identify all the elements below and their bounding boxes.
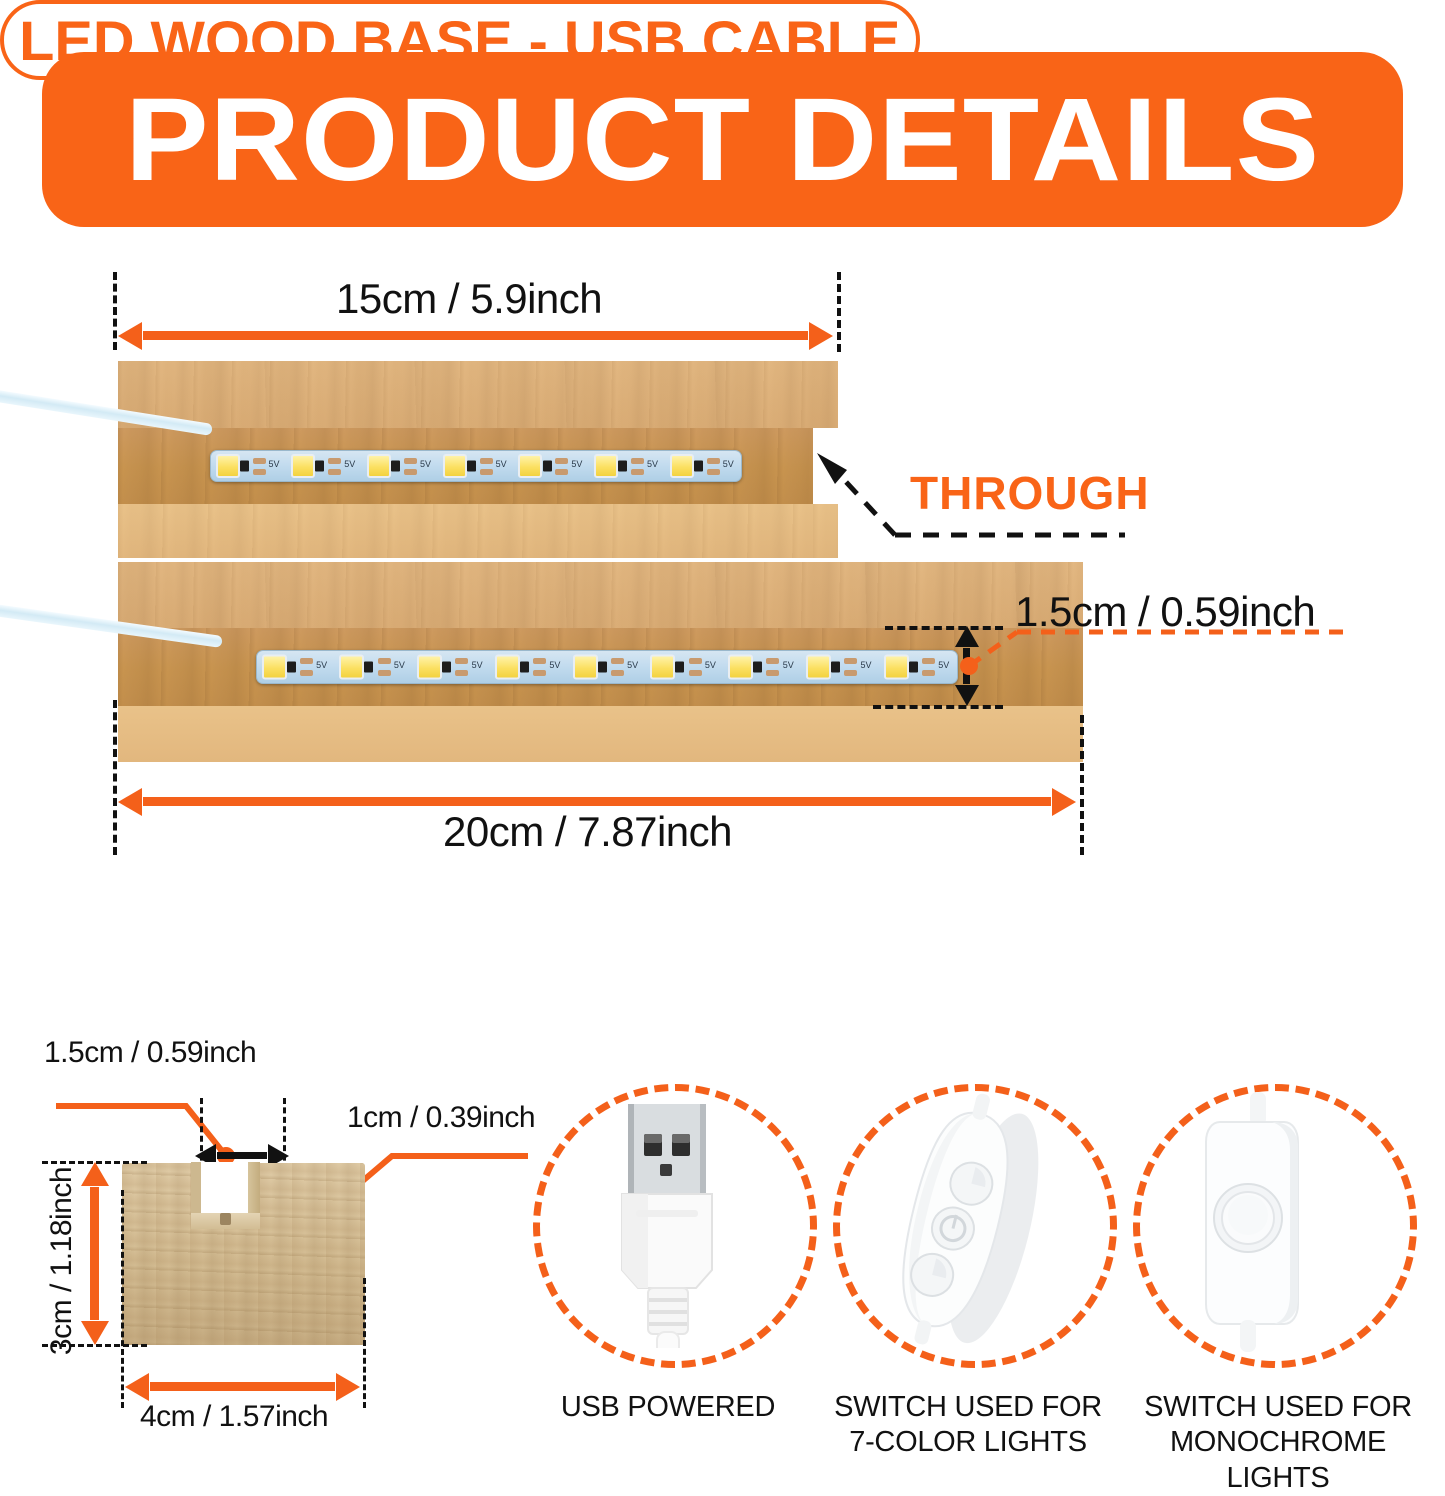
dimension-label-20cm: 20cm / 7.87inch <box>443 808 732 856</box>
cross-width-ext-left <box>121 1190 124 1408</box>
cross-groove-width-arrow <box>217 1152 267 1159</box>
led-segment: 5V <box>879 651 957 683</box>
usb-connector-icon <box>600 1098 740 1348</box>
led-segment: 5V <box>438 451 514 481</box>
extension-line-right-20cm <box>1080 715 1084 855</box>
led-segment: 5V <box>362 451 438 481</box>
through-label: THROUGH <box>910 466 1150 520</box>
wood-cross-section <box>122 1163 365 1345</box>
led-segment: 5V <box>514 451 590 481</box>
dimension-label-groove-depth: 1.5cm / 0.59inch <box>1015 588 1315 636</box>
large-base-front-lip <box>118 706 1083 762</box>
depth-guide-bottom <box>873 705 1003 709</box>
led-segment: 5V <box>287 451 363 481</box>
led-segment: 5V <box>590 451 666 481</box>
cross-width-label: 4cm / 1.57inch <box>140 1400 328 1434</box>
single-button-switch-icon <box>1180 1092 1360 1354</box>
small-base-front-lip <box>118 504 838 558</box>
led-segment: 5V <box>568 651 646 683</box>
led-segment: 5V <box>490 651 568 683</box>
section-title-label: LED WOOD BASE - USB CABLE <box>19 8 900 73</box>
led-segment: 5V <box>801 651 879 683</box>
cross-groove-width-label: 1.5cm / 0.59inch <box>44 1036 256 1070</box>
dimension-label-15cm: 15cm / 5.9inch <box>336 275 602 323</box>
extension-line-left-15cm <box>113 272 117 350</box>
dimension-arrow-15cm <box>143 331 808 340</box>
dimension-arrow-20cm <box>143 797 1051 806</box>
led-strip-large-base: 5V5V5V5V5V5V5V5V5V <box>256 650 958 684</box>
feature-caption-usb: USB POWERED <box>518 1390 818 1425</box>
cross-width-arrow <box>150 1382 335 1391</box>
section-title-pill: LED WOOD BASE - USB CABLE <box>0 0 920 80</box>
led-segment: 5V <box>646 651 724 683</box>
led-segment: 5V <box>335 651 413 683</box>
header-banner: PRODUCT DETAILS <box>42 52 1403 227</box>
extension-line-left-20cm <box>113 700 117 855</box>
cross-height-arrow <box>90 1187 99 1320</box>
feature-caption-7color-switch: SWITCH USED FOR 7-COLOR LIGHTS <box>818 1390 1118 1461</box>
led-segment: 5V <box>724 651 802 683</box>
extension-line-right-15cm <box>837 272 841 352</box>
cross-height-label: 3cm / 1.18inch <box>45 1161 79 1361</box>
led-segment: 5V <box>257 651 335 683</box>
page-title: PRODUCT DETAILS <box>125 81 1320 199</box>
led-strip-small-base: 5V5V5V5V5V5V5V <box>210 450 742 482</box>
led-segment: 5V <box>665 451 741 481</box>
three-button-switch-icon <box>858 1092 1078 1354</box>
feature-caption-monochrome-switch: SWITCH USED FOR MONOCHROME LIGHTS <box>1118 1390 1438 1496</box>
led-segment: 5V <box>211 451 287 481</box>
led-segment: 5V <box>413 651 491 683</box>
cross-width-ext-right <box>363 1278 366 1408</box>
